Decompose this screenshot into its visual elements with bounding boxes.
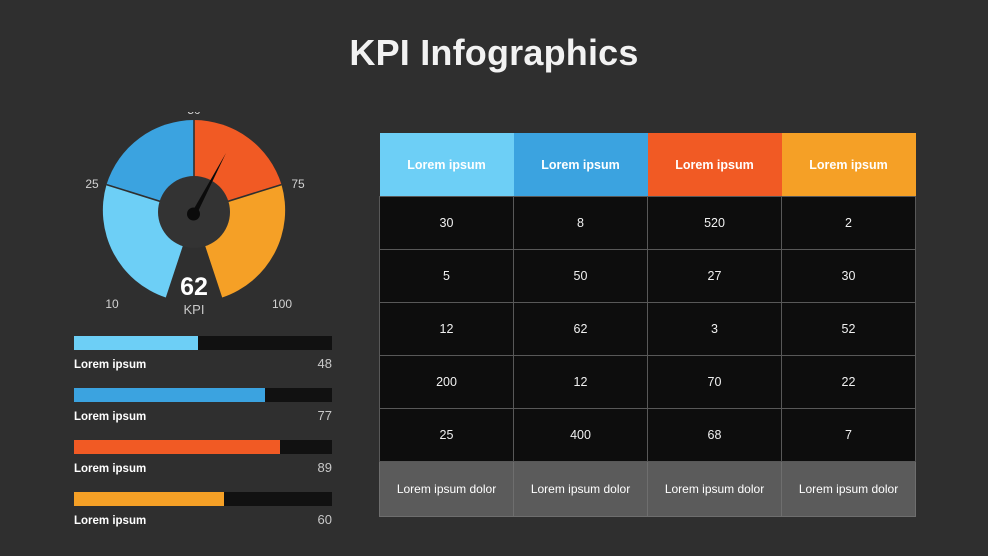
table-footer-cell: Lorem ipsum dolor <box>514 462 648 517</box>
table-footer-cell: Lorem ipsum dolor <box>648 462 782 517</box>
progress-bar-track <box>74 440 332 454</box>
gauge-tick-25: 25 <box>85 177 99 191</box>
table-row: 30 8 520 2 <box>380 197 916 250</box>
table-cell: 25 <box>380 409 514 462</box>
progress-bar-meta: Lorem ipsum 48 <box>74 356 332 371</box>
progress-bar-item: Lorem ipsum 89 <box>74 440 332 475</box>
table-cell: 62 <box>514 303 648 356</box>
table-cell: 22 <box>782 356 916 409</box>
table-cell: 8 <box>514 197 648 250</box>
table-body: 30 8 520 2 5 50 27 30 12 62 3 52 200 12 … <box>380 197 916 517</box>
table-cell: 30 <box>782 250 916 303</box>
progress-bar-track <box>74 388 332 402</box>
gauge-svg: 50 25 75 10 100 62 KPI <box>60 112 350 327</box>
progress-bar-fill <box>74 388 265 402</box>
progress-bar-meta: Lorem ipsum 77 <box>74 408 332 423</box>
progress-bar-label: Lorem ipsum <box>74 359 146 371</box>
table-footer-row: Lorem ipsum dolor Lorem ipsum dolor Lore… <box>380 462 916 517</box>
table-cell: 68 <box>648 409 782 462</box>
gauge-tick-50: 50 <box>187 112 201 117</box>
progress-bar-label: Lorem ipsum <box>74 463 146 475</box>
table-cell: 12 <box>514 356 648 409</box>
table-row: 5 50 27 30 <box>380 250 916 303</box>
progress-bar-label: Lorem ipsum <box>74 515 146 527</box>
table-cell: 7 <box>782 409 916 462</box>
gauge-tick-10: 10 <box>105 297 119 311</box>
kpi-data-table: Lorem ipsum Lorem ipsum Lorem ipsum Lore… <box>379 133 916 517</box>
progress-bar-value: 60 <box>318 512 332 527</box>
table-cell: 52 <box>782 303 916 356</box>
table-cell: 400 <box>514 409 648 462</box>
progress-bar-fill <box>74 336 198 350</box>
table-cell: 2 <box>782 197 916 250</box>
progress-bar-track <box>74 492 332 506</box>
progress-bar-item: Lorem ipsum 77 <box>74 388 332 423</box>
table-cell: 70 <box>648 356 782 409</box>
gauge-tick-75: 75 <box>291 177 305 191</box>
table-header-row: Lorem ipsum Lorem ipsum Lorem ipsum Lore… <box>380 133 916 197</box>
gauge-needle-pivot <box>187 208 200 221</box>
progress-bar-value: 89 <box>318 460 332 475</box>
kpi-gauge-chart: 50 25 75 10 100 62 KPI <box>60 112 350 327</box>
table-column-header: Lorem ipsum <box>380 133 514 197</box>
table-cell: 3 <box>648 303 782 356</box>
table-row: 200 12 70 22 <box>380 356 916 409</box>
gauge-unit-label: KPI <box>184 302 205 317</box>
progress-bar-value: 77 <box>318 408 332 423</box>
table-cell: 520 <box>648 197 782 250</box>
page-title: KPI Infographics <box>0 32 988 74</box>
table-head: Lorem ipsum Lorem ipsum Lorem ipsum Lore… <box>380 133 916 197</box>
progress-bar-value: 48 <box>318 356 332 371</box>
progress-bar-fill <box>74 492 224 506</box>
progress-bar-fill <box>74 440 280 454</box>
table-cell: 12 <box>380 303 514 356</box>
table-cell: 5 <box>380 250 514 303</box>
progress-bar-label: Lorem ipsum <box>74 411 146 423</box>
table-row: 25 400 68 7 <box>380 409 916 462</box>
progress-bar-meta: Lorem ipsum 89 <box>74 460 332 475</box>
progress-bar-meta: Lorem ipsum 60 <box>74 512 332 527</box>
progress-bar-item: Lorem ipsum 48 <box>74 336 332 371</box>
gauge-tick-100: 100 <box>272 297 292 311</box>
table-cell: 50 <box>514 250 648 303</box>
progress-bar-item: Lorem ipsum 60 <box>74 492 332 527</box>
table-cell: 27 <box>648 250 782 303</box>
table-row: 12 62 3 52 <box>380 303 916 356</box>
table-footer-cell: Lorem ipsum dolor <box>380 462 514 517</box>
table-cell: 30 <box>380 197 514 250</box>
table-cell: 200 <box>380 356 514 409</box>
gauge-value: 62 <box>180 273 208 301</box>
table-column-header: Lorem ipsum <box>514 133 648 197</box>
table-column-header: Lorem ipsum <box>782 133 916 197</box>
table-footer-cell: Lorem ipsum dolor <box>782 462 916 517</box>
progress-bar-track <box>74 336 332 350</box>
kpi-progress-bars: Lorem ipsum 48 Lorem ipsum 77 Lorem ipsu… <box>74 336 332 544</box>
table-column-header: Lorem ipsum <box>648 133 782 197</box>
